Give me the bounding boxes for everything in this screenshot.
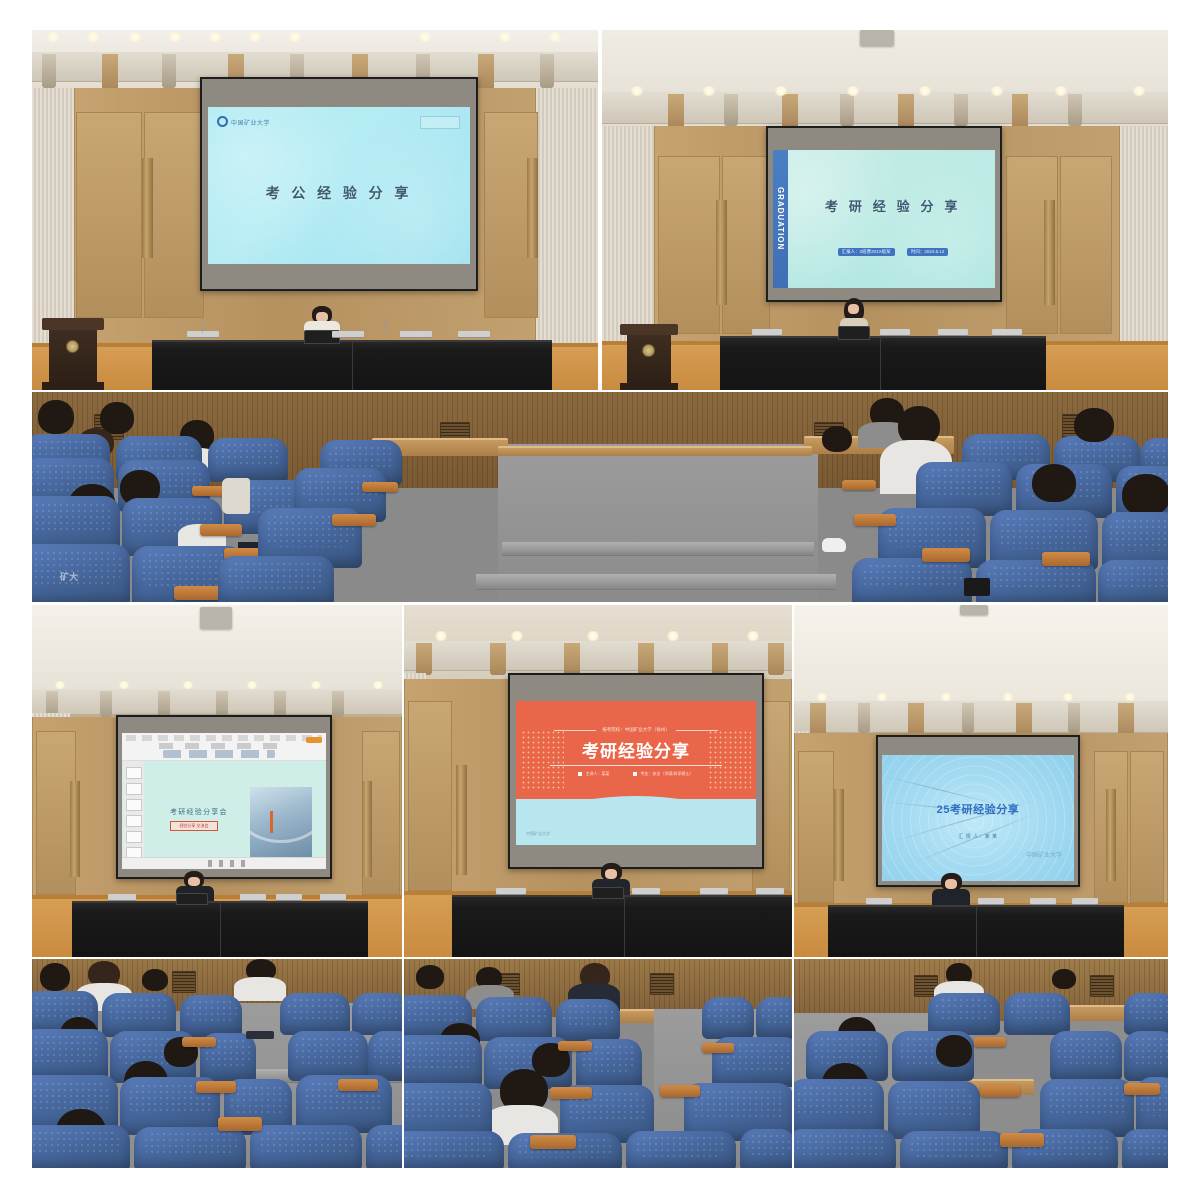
wall-speaker-column — [716, 200, 727, 305]
seat-armrest — [530, 1135, 576, 1149]
table-seam — [220, 903, 221, 957]
photo-lamp — [270, 811, 273, 833]
wall-speaker-column — [142, 158, 153, 258]
podium-top — [42, 318, 104, 330]
audience-head — [936, 1035, 972, 1067]
table-microphone — [632, 888, 660, 894]
ceiling-beam — [782, 94, 798, 128]
audience-scene-1: 矿大 — [32, 392, 1168, 602]
graduation-side-band: GRADUATION — [773, 150, 788, 288]
seat-armrest — [842, 480, 876, 490]
downlight — [846, 86, 860, 96]
table-microphone — [1030, 898, 1056, 904]
ppt-slide-canvas[interactable]: 考研经验分享会 经验分享 交流会 cumt期刊社 — [144, 761, 326, 857]
photo-panel-8 — [404, 959, 792, 1168]
stage-scene-2: GRADUATION 考 研 经 验 分 享 汇报人：0班曹201X级某 时间：… — [602, 30, 1168, 390]
table-microphone — [938, 329, 968, 335]
ppt-thumb-item[interactable] — [126, 783, 142, 795]
ceiling-beam — [478, 54, 494, 90]
auditorium-seat — [218, 556, 334, 602]
wall-vent — [172, 971, 196, 993]
downlight — [46, 32, 60, 42]
downlight — [54, 681, 66, 689]
audience-shoe — [822, 538, 846, 552]
auditorium-seat — [208, 438, 288, 482]
ceiling-slab-5 — [404, 641, 792, 671]
ppt-view-icons[interactable] — [208, 860, 249, 867]
downlight — [248, 32, 262, 42]
audience-head — [40, 963, 70, 991]
table-microphone — [240, 894, 266, 900]
audience-phone — [964, 578, 990, 596]
projection-screen-5: 报考院校：中国矿业大学（徐州） 考研经验分享 主讲人：某某 专业：安全（学硕/科… — [508, 673, 764, 869]
ceiling-beam — [962, 703, 974, 733]
head-table-1 — [152, 340, 552, 390]
auditorium-seat — [250, 1125, 362, 1168]
downlight — [168, 32, 182, 42]
slide-footer: 中国矿业大学 — [526, 831, 550, 837]
ppt-thumb-item[interactable] — [126, 815, 142, 827]
table-microphone — [496, 888, 526, 894]
ceiling-beam — [898, 94, 914, 128]
audience-shoulder — [234, 977, 286, 1001]
seat-armrest — [332, 514, 376, 526]
audience-head — [142, 969, 168, 991]
kicker-rule-right — [676, 730, 718, 731]
ceiling-beam — [162, 54, 176, 88]
wood-panel — [76, 112, 142, 318]
wall-speaker-column — [527, 158, 538, 258]
ceiling-beam — [274, 691, 286, 717]
downlight — [548, 32, 562, 42]
badge-presenter: 汇报人：0班曹201X级某 — [838, 248, 895, 256]
table-microphone — [992, 329, 1022, 335]
auditorium-seat — [1122, 1129, 1168, 1168]
ceiling-beam — [158, 691, 170, 717]
downlight — [816, 693, 828, 701]
auditorium-seat — [180, 995, 242, 1037]
audience-head — [1052, 969, 1076, 989]
downlight — [774, 86, 788, 96]
projection-screen-6: 25考研经验分享 汇 报 人：某 某 中国矿业大学 — [876, 735, 1080, 887]
head-table-2 — [720, 336, 1046, 390]
table-microphone — [108, 894, 136, 900]
table-seam — [352, 342, 353, 390]
audience-head — [1032, 464, 1076, 502]
auditorium-seat — [280, 993, 350, 1035]
seat-armrest — [1042, 552, 1090, 566]
table-microphone — [978, 898, 1004, 904]
downlight — [746, 631, 760, 641]
ceiling-beam — [416, 643, 432, 675]
desk-row — [498, 446, 812, 456]
wall-speaker-column — [362, 781, 372, 877]
ceiling-beam — [954, 94, 968, 126]
ceiling-beam — [858, 703, 870, 733]
table-seam — [880, 338, 881, 390]
seat-armrest — [702, 1043, 734, 1053]
auditorium-seat — [740, 1129, 792, 1168]
audience-head — [38, 400, 74, 434]
downlight — [876, 693, 888, 701]
wall-speaker-column — [70, 781, 80, 877]
seat-armrest — [550, 1087, 592, 1099]
table-microphone — [187, 331, 219, 337]
slide-2: GRADUATION 考 研 经 验 分 享 汇报人：0班曹201X级某 时间：… — [773, 150, 995, 288]
bullet-square-icon — [578, 772, 582, 776]
wood-panel — [408, 701, 452, 891]
wood-panel — [798, 751, 834, 903]
podium-emblem — [66, 340, 79, 353]
slide-divider — [550, 765, 722, 766]
podium-emblem — [642, 344, 655, 357]
ceiling-beam — [42, 54, 56, 88]
table-microphone — [400, 331, 432, 337]
aisle-step — [476, 574, 836, 590]
bullet-square-icon — [633, 772, 637, 776]
graduation-band-text: GRADUATION — [776, 187, 785, 250]
table-microphone — [700, 888, 728, 894]
auditorium-seat — [404, 1035, 482, 1087]
ceiling-projector — [200, 607, 232, 629]
ceiling-beam — [1068, 703, 1080, 733]
ppt-red-tag: 经验分享 交流会 — [170, 821, 218, 831]
auditorium-seat — [1050, 1031, 1122, 1081]
table-microphone — [1072, 898, 1098, 904]
university-logo-icon — [217, 116, 228, 127]
ppt-slide-thumbnails[interactable] — [123, 761, 145, 857]
downlight — [1002, 693, 1014, 701]
presenter-face — [605, 869, 617, 879]
slide-title: 考 研 经 验 分 享 — [791, 196, 995, 215]
ceiling-beam — [712, 643, 728, 675]
presenter-face — [945, 879, 957, 889]
auditorium-seat — [32, 544, 130, 602]
seat-armrest — [362, 482, 398, 492]
photo-panel-2: GRADUATION 考 研 经 验 分 享 汇报人：0班曹201X级某 时间：… — [602, 30, 1168, 390]
audience-head — [822, 426, 852, 452]
photo-panel-6: 25考研经验分享 汇 报 人：某 某 中国矿业大学 — [794, 605, 1168, 957]
downlight — [630, 86, 644, 96]
wall-vent — [1090, 975, 1114, 997]
slide-watermark: 中国矿业大学 — [1026, 850, 1062, 859]
auditorium-seat — [368, 1031, 402, 1081]
head-table-4 — [72, 901, 368, 957]
ceiling-beam — [908, 703, 924, 737]
downlight — [1054, 86, 1068, 96]
projection-screen-2: GRADUATION 考 研 经 验 分 享 汇报人：0班曹201X级某 时间：… — [766, 126, 1002, 302]
auditorium-seat — [32, 1125, 130, 1168]
audience-scene-2 — [32, 959, 402, 1168]
wood-panel — [1130, 751, 1164, 903]
ceiling-beam — [490, 643, 506, 675]
downlight — [1132, 86, 1146, 96]
laptop — [176, 893, 208, 905]
seat-armrest — [660, 1085, 700, 1097]
downlight — [246, 681, 258, 689]
slide-6: 25考研经验分享 汇 报 人：某 某 中国矿业大学 — [882, 755, 1074, 881]
ppt-slide-title: 考研经验分享会 — [170, 807, 228, 817]
auditorium-seat — [702, 997, 754, 1039]
ceiling-beam — [840, 94, 854, 126]
table-seam — [976, 907, 977, 957]
presenter-face — [848, 304, 859, 314]
wood-panel — [658, 156, 720, 334]
table-microphone — [880, 329, 910, 335]
auditorium-seat — [852, 558, 972, 602]
seat-armrest-shadow — [246, 1031, 274, 1039]
wall-speaker-column — [1106, 789, 1116, 881]
wood-panel — [722, 156, 770, 334]
wood-panel — [144, 112, 204, 318]
seat-armrest — [200, 524, 242, 536]
ceiling-beam — [724, 94, 738, 126]
downlight — [940, 693, 952, 701]
downlight — [586, 631, 600, 641]
auditorium-seat — [626, 1131, 736, 1168]
stage-scene-5: 报考院校：中国矿业大学（徐州） 考研经验分享 主讲人：某某 专业：安全（学硕/科… — [404, 605, 792, 957]
university-logo-text: 中国矿业大学 — [231, 118, 270, 127]
podium-top — [620, 324, 678, 335]
downlight — [702, 86, 716, 96]
slide-meta-row: 主讲人：某某 专业：安全（学硕/科学硕士） — [516, 771, 756, 777]
seat-armrest — [558, 1041, 592, 1051]
stage-scene-6: 25考研经验分享 汇 报 人：某 某 中国矿业大学 — [794, 605, 1168, 957]
photo-panel-1: 中国矿业大学 考 公 经 验 分 享 — [32, 30, 598, 390]
slide-badges: 汇报人：0班曹201X级某 时间：2024.6.12 — [791, 248, 995, 256]
seat-armrest — [192, 486, 226, 496]
downlight — [128, 32, 142, 42]
projection-screen-4: 考研经验分享会 经验分享 交流会 cumt期刊社 — [116, 715, 332, 879]
wall-vent — [650, 973, 674, 995]
seat-armrest — [196, 1081, 236, 1093]
auditorium-seat — [366, 1125, 402, 1168]
slide-kicker: 报考院校：中国矿业大学（徐州） — [516, 727, 756, 733]
auditorium-seat — [928, 993, 1000, 1035]
ceiling-beam — [1118, 703, 1134, 737]
seat-armrest — [174, 586, 222, 600]
auditorium-seat — [352, 993, 402, 1035]
seat-armrest — [922, 548, 970, 562]
seat-armrest — [182, 1037, 216, 1047]
audience-head — [416, 965, 444, 989]
table-seam — [624, 897, 625, 957]
auditorium-seat — [756, 997, 792, 1039]
ceiling-projector — [960, 605, 988, 615]
ppt-menu-row[interactable] — [126, 735, 322, 741]
auditorium-seat — [32, 1029, 108, 1081]
slide-4: 考研经验分享会 经验分享 交流会 cumt期刊社 — [122, 733, 326, 869]
table-microphone — [866, 898, 892, 904]
slide-meta-left: 主讲人：某某 — [578, 771, 609, 777]
podium-1 — [42, 318, 104, 390]
slide-1: 中国矿业大学 考 公 经 验 分 享 — [208, 107, 470, 264]
downlight — [434, 631, 448, 641]
seat-armrest — [1124, 1083, 1160, 1095]
ceiling-beam — [102, 54, 118, 90]
auditorium-seat — [404, 1131, 504, 1168]
downlight — [990, 86, 1004, 96]
downlight — [310, 681, 322, 689]
seat-logo: 矿大 — [60, 570, 78, 583]
seat-armrest — [854, 514, 896, 526]
seat-armrest — [980, 1085, 1020, 1097]
slide-meta-right: 专业：安全（学硕/科学硕士） — [633, 771, 693, 777]
slide-title: 考研经验分享 — [516, 737, 756, 762]
ceiling-beam — [1068, 94, 1082, 126]
downlight — [118, 681, 130, 689]
downlight — [208, 32, 222, 42]
seat-armrest — [1000, 1133, 1044, 1147]
slide-title: 考 公 经 验 分 享 — [208, 183, 470, 203]
downlight — [666, 631, 680, 641]
projection-screen-1: 中国矿业大学 考 公 经 验 分 享 — [200, 77, 478, 291]
downlight — [182, 681, 194, 689]
table-microphone — [332, 331, 364, 337]
auditorium-seat — [900, 1131, 1008, 1168]
downlight — [1124, 693, 1136, 701]
ppt-slide-photo — [250, 787, 312, 857]
slide-corner-mark — [420, 116, 460, 129]
table-microphone — [320, 894, 346, 900]
ceiling-beam — [768, 643, 784, 675]
slide-title: 25考研经验分享 — [882, 801, 1074, 817]
downlight — [372, 681, 384, 689]
auditorium-seat — [1004, 993, 1070, 1035]
downlight — [510, 631, 524, 641]
auditorium-seat — [794, 1129, 896, 1168]
auditorium-seat — [476, 997, 552, 1041]
ppt-thumb-item[interactable] — [126, 831, 142, 843]
photo-panel-9 — [794, 959, 1168, 1168]
wall-speaker-column — [456, 765, 467, 875]
ppt-status-bar[interactable] — [122, 857, 326, 869]
aisle-step — [502, 542, 814, 556]
photo-panel-3: 矿大 — [32, 392, 1168, 602]
ceiling-beam — [540, 54, 554, 88]
auditorium-seat — [1098, 560, 1168, 602]
ppt-thumb-item[interactable] — [126, 767, 142, 779]
podium-base — [620, 383, 678, 390]
head-table-6 — [828, 905, 1124, 957]
ceiling-beam — [332, 691, 344, 717]
seat-armrest — [218, 1117, 262, 1131]
slide-5: 报考院校：中国矿业大学（徐州） 考研经验分享 主讲人：某某 专业：安全（学硕/科… — [516, 701, 756, 845]
ppt-icon-row[interactable] — [163, 750, 275, 759]
audience-head — [1074, 408, 1114, 442]
auditorium-seat — [976, 560, 1096, 602]
ppt-share-button[interactable] — [306, 737, 322, 743]
photo-collage: 中国矿业大学 考 公 经 验 分 享 — [0, 0, 1200, 1200]
downlight — [86, 32, 100, 42]
audience-scene-4 — [794, 959, 1168, 1168]
table-microphone — [752, 329, 782, 335]
stage-scene-1: 中国矿业大学 考 公 经 验 分 享 — [32, 30, 598, 390]
downlight — [918, 86, 932, 96]
slide-background-wave — [773, 150, 995, 288]
audience-scene-3 — [404, 959, 792, 1168]
ppt-thumb-item[interactable] — [126, 799, 142, 811]
wall-speaker-column — [1044, 200, 1055, 305]
ceiling-beam — [668, 94, 684, 128]
auditorium-seat — [1124, 1031, 1168, 1081]
ceiling-slab-6 — [794, 701, 1168, 733]
ceiling-beam — [564, 643, 580, 675]
presenter-face — [188, 877, 200, 886]
table-microphone — [756, 888, 784, 894]
photo-panel-4: 考研经验分享会 经验分享 交流会 cumt期刊社 — [32, 605, 402, 957]
podium-body — [627, 335, 671, 383]
ceiling-beam — [100, 691, 112, 717]
laptop — [592, 887, 624, 899]
downlight — [288, 32, 302, 42]
wood-panel — [1060, 156, 1112, 334]
podium-2 — [620, 324, 678, 390]
badge-date: 时间：2024.6.12 — [907, 248, 949, 256]
seat-armrest — [974, 1037, 1006, 1047]
head-table-5 — [452, 895, 792, 957]
ceiling-beam — [1016, 703, 1032, 737]
downlight — [418, 32, 432, 42]
seat-armrest — [338, 1079, 378, 1091]
auditorium-seat — [556, 999, 620, 1041]
wall-speaker-column — [834, 789, 844, 881]
auditorium-seat — [288, 1031, 368, 1081]
ppt-ribbon[interactable] — [122, 733, 326, 761]
podium-body — [49, 330, 96, 382]
ceiling-beam — [638, 643, 654, 675]
downlight — [1062, 693, 1074, 701]
photo-arc-decoration — [250, 787, 312, 843]
table-microphone — [458, 331, 490, 337]
table-microphone — [276, 894, 302, 900]
ceiling-slab-2 — [602, 92, 1168, 124]
auditorium-seat — [1124, 993, 1168, 1035]
ceiling-beam — [216, 691, 228, 717]
photo-panel-5: 报考院校：中国矿业大学（徐州） 考研经验分享 主讲人：某某 专业：安全（学硕/科… — [404, 605, 792, 957]
kicker-rule-left — [554, 730, 596, 731]
stage-edge — [32, 895, 402, 899]
kicker-text: 报考院校：中国矿业大学（徐州） — [602, 727, 670, 733]
audience-head — [1122, 474, 1168, 516]
microphone-stem — [202, 318, 203, 332]
photo-panel-7 — [32, 959, 402, 1168]
podium-base — [42, 382, 104, 390]
ceiling-beam — [810, 703, 826, 737]
audience-bag — [222, 478, 250, 514]
stage-scene-4: 考研经验分享会 经验分享 交流会 cumt期刊社 — [32, 605, 402, 957]
slide-subtitle: 汇 报 人：某 某 — [882, 833, 1074, 840]
laptop — [838, 326, 870, 340]
ceiling-projector — [860, 30, 894, 46]
auditorium-seat — [134, 1127, 246, 1168]
microphone-stem — [384, 318, 385, 332]
downlight — [498, 32, 512, 42]
ceiling-beam — [1012, 94, 1028, 128]
ppt-tab-row[interactable] — [159, 743, 285, 748]
